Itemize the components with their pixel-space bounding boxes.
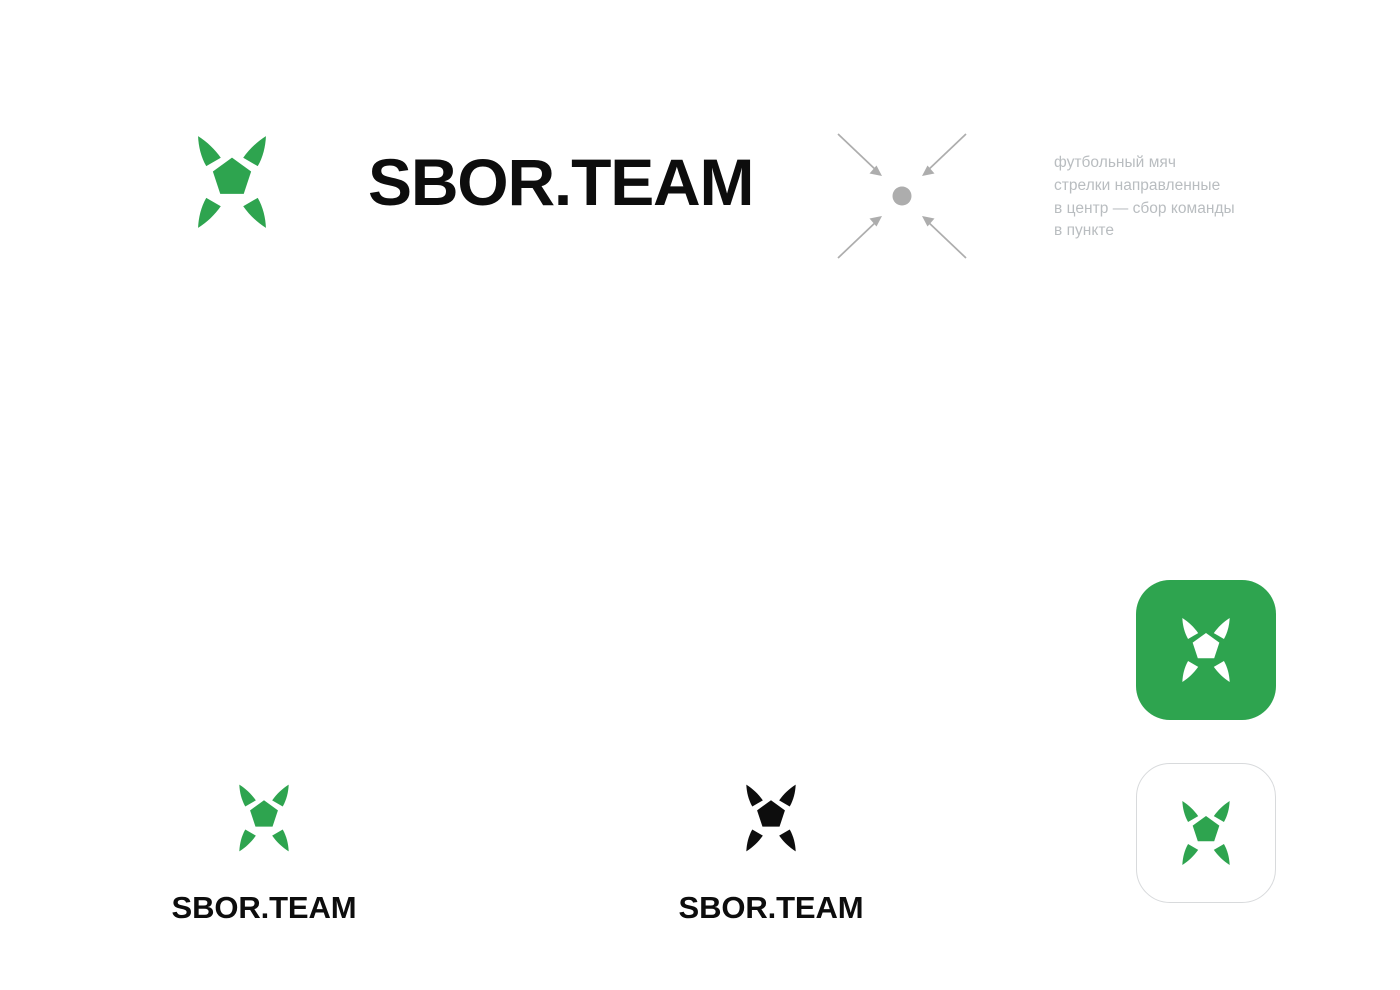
ball-center-pentagon — [1193, 816, 1220, 841]
ball-petal-bottom-right — [779, 830, 796, 852]
app-icon-light[interactable] — [1136, 763, 1276, 903]
ball-center-pentagon — [250, 800, 278, 826]
arrow-from-top-left — [838, 134, 882, 176]
vertical-lockup-mono: SBOR.TEAM — [665, 770, 877, 923]
vertical-lockup-wordmark: SBOR.TEAM — [679, 892, 864, 923]
ball-petal-bottom-left — [1182, 844, 1198, 865]
ball-petal-top-left — [1182, 801, 1198, 822]
concept-annotation-text: футбольный мяч стрелки направленные в це… — [1054, 152, 1235, 243]
ball-center-pentagon — [213, 158, 251, 194]
vertical-lockup-wordmark: SBOR.TEAM — [172, 892, 357, 923]
soccer-ball-mark — [166, 116, 298, 248]
primary-horizontal-lockup: SBOR.TEAM — [166, 116, 753, 248]
ball-petal-bottom-left — [1182, 661, 1198, 682]
primary-wordmark: SBOR.TEAM — [368, 149, 753, 215]
ball-petal-bottom-left — [198, 198, 221, 228]
ball-petal-bottom-right — [243, 198, 266, 228]
ball-petal-top-left — [239, 785, 256, 807]
ball-petal-top-right — [272, 785, 289, 807]
ball-petal-bottom-left — [746, 830, 763, 852]
ball-petal-top-right — [1214, 618, 1230, 639]
arrow-from-bottom-right — [922, 216, 966, 258]
ball-petal-top-right — [243, 136, 266, 166]
vertical-lockup-green: SBOR.TEAM — [158, 770, 370, 923]
ball-petal-top-right — [1214, 801, 1230, 822]
soccer-ball-mark — [216, 770, 312, 866]
soccer-ball-mark-icon — [1160, 787, 1252, 879]
app-icon-green[interactable] — [1136, 580, 1276, 720]
ball-petal-top-right — [779, 785, 796, 807]
arrows-converging-to-center-icon — [828, 126, 976, 266]
ball-petal-bottom-right — [1214, 661, 1230, 682]
ball-petal-top-left — [1182, 618, 1198, 639]
presentation-canvas: SBOR.TEAM — [0, 0, 1400, 990]
ball-petal-top-left — [198, 136, 221, 166]
arrow-from-top-right — [922, 134, 966, 176]
ball-center-pentagon — [1193, 633, 1220, 658]
ball-petal-bottom-right — [272, 830, 289, 852]
center-dot — [893, 187, 912, 206]
ball-petal-top-left — [746, 785, 763, 807]
soccer-ball-mark-inverted-icon — [1160, 604, 1252, 696]
arrow-from-bottom-left — [838, 216, 882, 258]
ball-petal-bottom-right — [1214, 844, 1230, 865]
ball-petal-bottom-left — [239, 830, 256, 852]
concept-explanation-group: футбольный мяч стрелки направленные в це… — [828, 126, 1235, 266]
ball-center-pentagon — [757, 800, 785, 826]
soccer-ball-mark-mono — [723, 770, 819, 866]
